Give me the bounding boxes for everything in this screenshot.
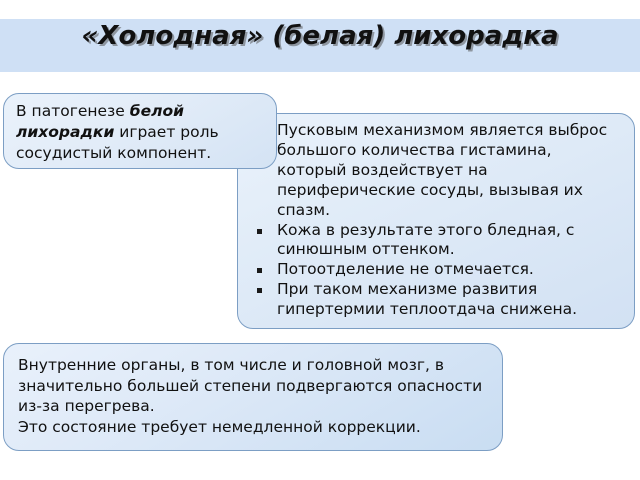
list-item: Пусковым механизмом является выброс боль…: [252, 121, 622, 221]
conclusion-callout: Внутренние органы, в том числе и головно…: [3, 343, 503, 451]
mechanism-list: Пусковым механизмом является выброс боль…: [252, 121, 622, 320]
list-item: Потоотделение не отмечается.: [252, 260, 622, 280]
mechanism-callout: Пусковым механизмом является выброс боль…: [237, 113, 635, 329]
list-item: При таком механизме развития гипертермии…: [252, 280, 622, 320]
intro-callout: В патогенезе белой лихорадки играет роль…: [3, 93, 277, 169]
conclusion-paragraph: Внутренние органы, в том числе и головно…: [18, 355, 490, 417]
intro-lead-text: В патогенезе: [16, 102, 130, 120]
conclusion-paragraph: Это состояние требует немедленной коррек…: [18, 417, 490, 438]
list-item: Кожа в результате этого бледная, с синюш…: [252, 221, 622, 261]
page-title: «Холодная» (белая) лихорадка: [0, 21, 640, 51]
